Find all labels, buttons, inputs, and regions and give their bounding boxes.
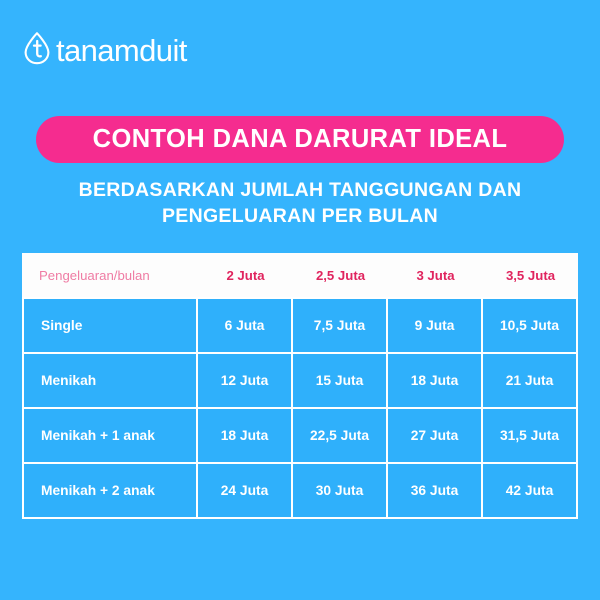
- poster-canvas: tanamduit CONTOH DANA DARURAT IDEAL BERD…: [0, 0, 600, 600]
- cell-0-2: 9 Juta: [388, 297, 483, 354]
- cell-3-2: 36 Juta: [388, 464, 483, 519]
- droplet-t-icon: [22, 31, 52, 65]
- table-body: Single 6 Juta 7,5 Juta 9 Juta 10,5 Juta …: [22, 297, 578, 519]
- column-header-expense-label: Pengeluaran/bulan: [22, 253, 198, 297]
- cell-1-2: 18 Juta: [388, 354, 483, 409]
- cell-1-1: 15 Juta: [293, 354, 388, 409]
- cell-2-3: 31,5 Juta: [483, 409, 578, 464]
- table-row: Single 6 Juta 7,5 Juta 9 Juta 10,5 Juta: [22, 297, 578, 354]
- page-title: CONTOH DANA DARURAT IDEAL: [93, 127, 508, 153]
- cell-3-0: 24 Juta: [198, 464, 293, 519]
- cell-3-3: 42 Juta: [483, 464, 578, 519]
- row-label-2: Menikah + 1 anak: [22, 409, 198, 464]
- table-row: Menikah 12 Juta 15 Juta 18 Juta 21 Juta: [22, 354, 578, 409]
- table-row: Menikah + 1 anak 18 Juta 22,5 Juta 27 Ju…: [22, 409, 578, 464]
- row-label-1: Menikah: [22, 354, 198, 409]
- cell-1-3: 21 Juta: [483, 354, 578, 409]
- column-header-0: 2 Juta: [198, 253, 293, 297]
- cell-2-0: 18 Juta: [198, 409, 293, 464]
- subtitle-line-2: PENGELUARAN PER BULAN: [30, 204, 570, 230]
- table-row: Menikah + 2 anak 24 Juta 30 Juta 36 Juta…: [22, 464, 578, 519]
- emergency-fund-table: Pengeluaran/bulan 2 Juta 2,5 Juta 3 Juta…: [22, 253, 578, 519]
- table-header: Pengeluaran/bulan 2 Juta 2,5 Juta 3 Juta…: [22, 253, 578, 297]
- column-header-1: 2,5 Juta: [293, 253, 388, 297]
- cell-2-2: 27 Juta: [388, 409, 483, 464]
- cell-0-3: 10,5 Juta: [483, 297, 578, 354]
- column-header-2: 3 Juta: [388, 253, 483, 297]
- column-header-3: 3,5 Juta: [483, 253, 578, 297]
- brand-logo: tanamduit: [22, 26, 187, 70]
- subtitle-line-1: BERDASARKAN JUMLAH TANGGUNGAN DAN: [30, 178, 570, 204]
- table-header-row: Pengeluaran/bulan 2 Juta 2,5 Juta 3 Juta…: [22, 253, 578, 297]
- brand-name: tanamduit: [56, 35, 187, 66]
- cell-0-0: 6 Juta: [198, 297, 293, 354]
- row-label-0: Single: [22, 297, 198, 354]
- cell-2-1: 22,5 Juta: [293, 409, 388, 464]
- title-banner: CONTOH DANA DARURAT IDEAL: [36, 116, 564, 163]
- cell-1-0: 12 Juta: [198, 354, 293, 409]
- page-subtitle: BERDASARKAN JUMLAH TANGGUNGAN DAN PENGEL…: [30, 178, 570, 230]
- cell-3-1: 30 Juta: [293, 464, 388, 519]
- row-label-3: Menikah + 2 anak: [22, 464, 198, 519]
- cell-0-1: 7,5 Juta: [293, 297, 388, 354]
